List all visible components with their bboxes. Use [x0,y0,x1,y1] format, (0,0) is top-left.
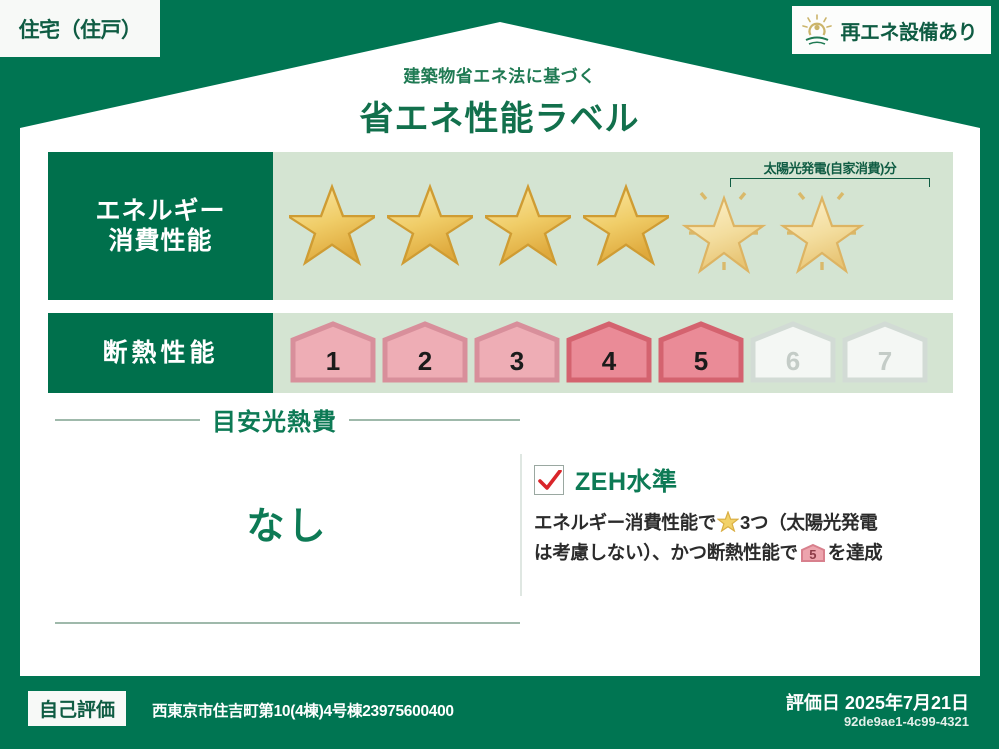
renewable-energy-badge: 再エネ設備あり [792,6,992,54]
label-subtitle: 建築物省エネ法に基づく [0,62,999,87]
zeh-desc-part2: は考慮しない）、かつ断熱性能で [534,542,798,563]
energy-performance-row: エネルギー 消費性能 太陽光発電(自家消費)分 [48,152,953,300]
insulation-grade-3: 3 [473,320,561,386]
insulation-grade-7: 7 [841,320,929,386]
insulation-grade-6-value: 6 [749,348,837,374]
insulation-performance-label-text: 断熱性能 [102,338,218,369]
divider-right [349,419,520,421]
insulation-grade-1: 1 [289,320,377,386]
zeh-header: ZEH水準 [534,462,954,498]
zeh-title: ZEH水準 [575,462,678,498]
zeh-description: エネルギー消費性能で3つ（太陽光発電 は考慮しない）、かつ断熱性能で5を達成 [534,509,954,567]
evaluation-date: 評価日 2025年7月21日 [786,689,969,715]
inline-star-icon [717,511,739,539]
star-filled [289,178,375,274]
zeh-checkbox[interactable] [534,465,564,495]
energy-performance-label: 住宅（住戸） 再エネ設備あり 建築物省エネ法に基づく 省エネ性能ラベル [0,0,999,749]
insulation-performance-label: 断熱性能 [48,313,273,393]
zeh-desc-star-count: 3つ（太陽光発電 [740,512,877,533]
energy-performance-body: 太陽光発電(自家消費)分 [273,152,953,300]
evaluation-date-label: 評価日 [786,693,840,713]
solar-generation-bracket [730,178,930,187]
evaluation-type-label: 自己評価 [39,700,115,721]
check-icon [538,470,562,492]
star-solar [779,178,865,274]
solar-generation-annotation-label: 太陽光発電(自家消費)分 [724,158,936,177]
insulation-grade-4-value: 4 [565,348,653,374]
star-filled [485,178,571,274]
insulation-performance-body: 1 2 3 [273,313,953,393]
performance-rows: エネルギー 消費性能 太陽光発電(自家消費)分 [48,152,953,406]
zeh-block: ZEH水準 エネルギー消費性能で3つ（太陽光発電 は考慮しない）、かつ断熱性能で… [534,462,954,567]
energy-performance-label-line1: エネルギー [95,196,225,227]
energy-performance-label: エネルギー 消費性能 [48,152,273,300]
utility-cost-value: なし [55,495,520,550]
evaluation-type-badge: 自己評価 [28,691,126,726]
label-title-block: 建築物省エネ法に基づく 省エネ性能ラベル [0,62,999,140]
insulation-grade-3-value: 3 [473,348,561,374]
energy-performance-label-line2: 消費性能 [108,226,212,257]
zeh-desc-part3: を達成 [828,542,883,563]
category-badge: 住宅（住戸） [0,0,160,57]
insulation-grade-6: 6 [749,320,837,386]
evaluation-id: 92de9ae1-4c99-4321 [844,714,969,729]
solar-generation-annotation: 太陽光発電(自家消費)分 [724,158,936,187]
insulation-grade-1-value: 1 [289,348,377,374]
utility-cost-header: 目安光熱費 [55,402,520,437]
insulation-grade-2: 2 [381,320,469,386]
lower-section: 目安光熱費 なし ZEH水準 エネルギー消費性能で3つ（太陽光発電 は考慮しない… [0,402,999,672]
inline-grade-house-value: 5 [800,548,826,561]
utility-cost-title: 目安光熱費 [212,402,337,437]
star-filled [583,178,669,274]
section-vertical-divider [520,454,522,596]
insulation-grade-2-value: 2 [381,348,469,374]
category-badge-label: 住宅（住戸） [19,14,142,44]
star-solar [681,178,767,274]
page-title: 省エネ性能ラベル [0,91,999,140]
inline-grade-house-icon: 5 [800,543,826,563]
star-filled [387,178,473,274]
insulation-grade-scale: 1 2 3 [273,313,953,393]
sun-icon [800,13,834,47]
divider-left [55,419,200,421]
renewable-energy-badge-label: 再エネ設備あり [841,16,978,45]
insulation-grade-5: 5 [657,320,745,386]
property-address: 西東京市住吉町第10(4棟)4号棟23975600400 [152,699,454,721]
insulation-grade-7-value: 7 [841,348,929,374]
zeh-desc-part1: エネルギー消費性能で [534,512,716,533]
insulation-performance-row: 断熱性能 1 2 [48,313,953,393]
insulation-grade-4: 4 [565,320,653,386]
footer: 自己評価 西東京市住吉町第10(4棟)4号棟23975600400 評価日 20… [0,677,999,749]
insulation-grade-5-value: 5 [657,348,745,374]
evaluation-date-value: 2025年7月21日 [845,693,969,713]
utility-cost-bottom-divider [55,622,520,624]
utility-cost-block: 目安光熱費 なし [55,402,520,624]
